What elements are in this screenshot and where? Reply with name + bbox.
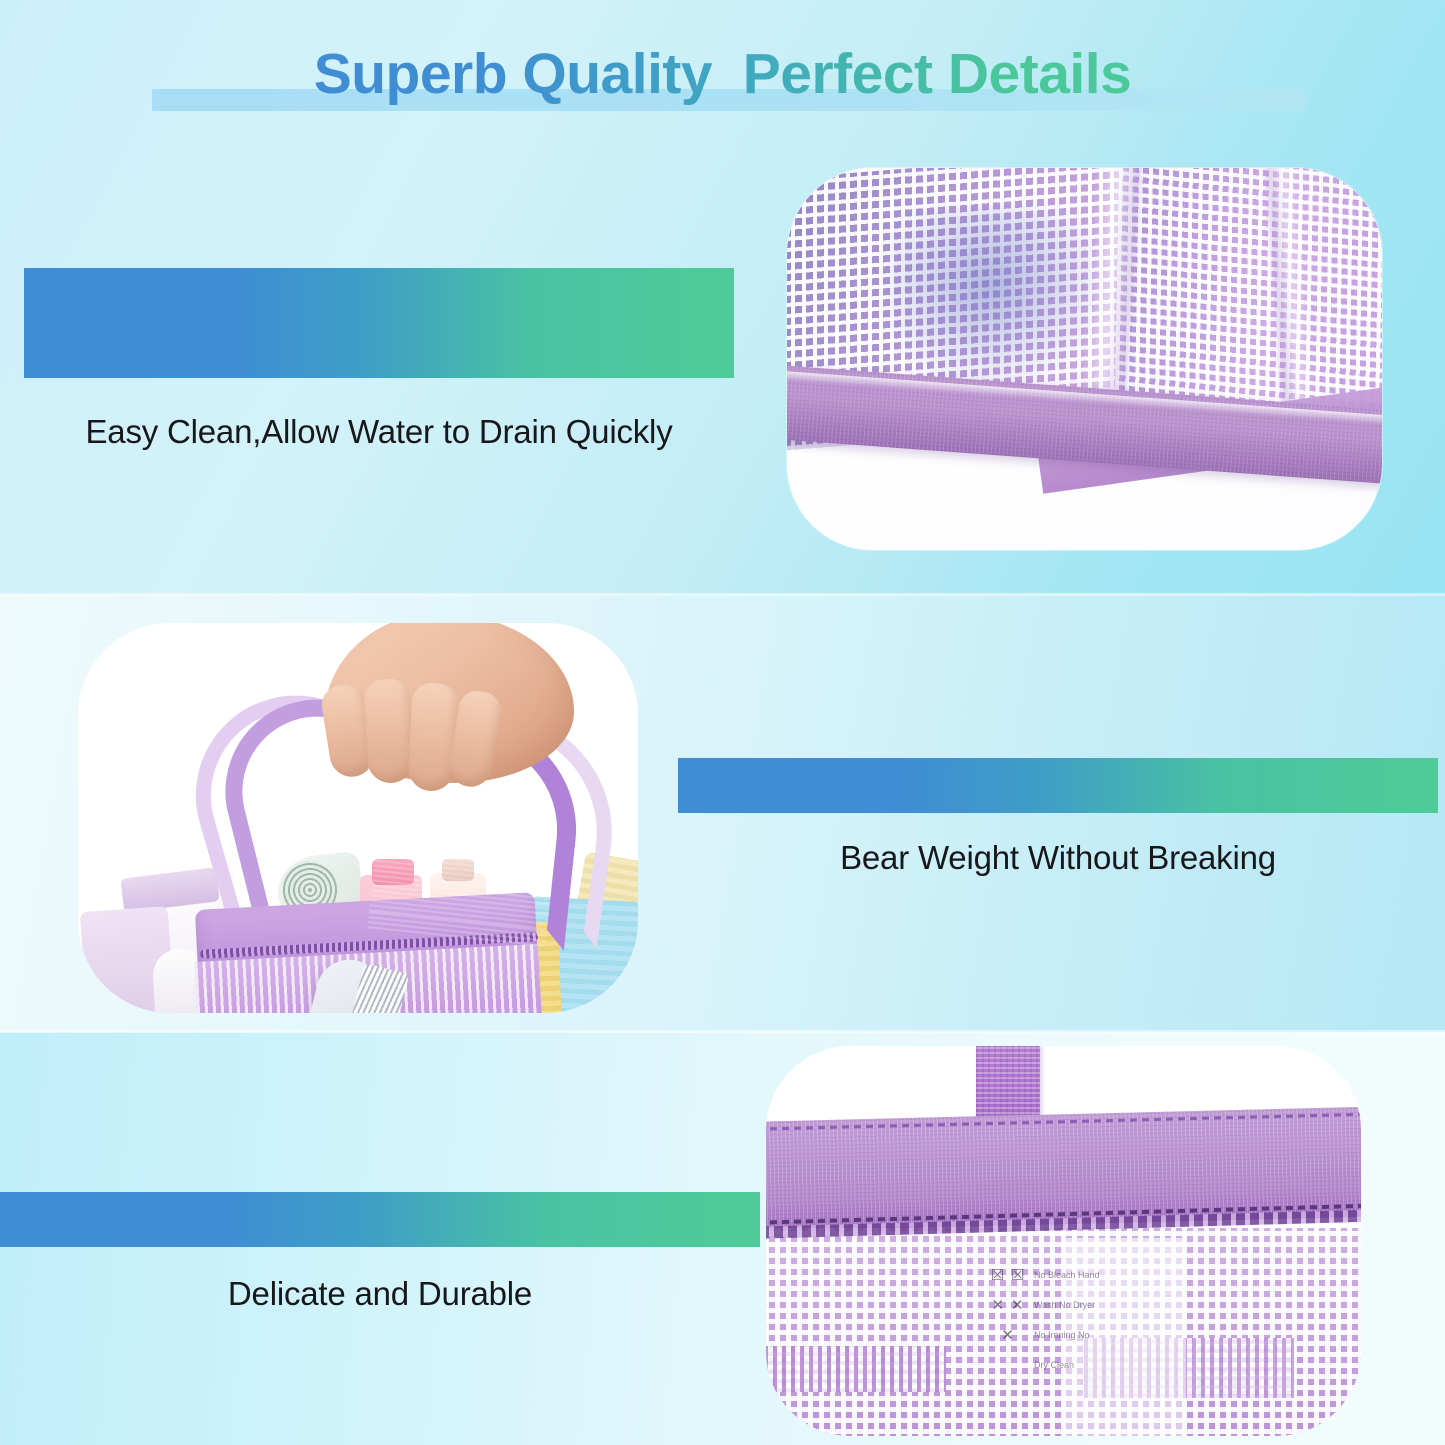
feature-heading-strong-handle: Reinforced Strong Handle [678,758,1438,813]
feature-subtitle-strong-handle: Bear Weight Without Breaking [678,837,1438,878]
photo-hand-holding-caddy [78,623,638,1013]
band-divider-2 [0,1030,1445,1033]
finger-ring [407,682,459,792]
feature-text-strong-handle: Reinforced Strong Handle Bear Weight Wit… [678,758,1438,878]
care-label-icons: ☒ ☒ ✕ ✕ ✕ [982,1260,1034,1350]
mesh-grid-left [766,1346,946,1392]
feature-heading-sewing-workmanship: Exquisite Sewing Workmanship [0,1192,760,1247]
photo-sewing-closeup: ☒ ☒ ✕ ✕ ✕ No Bleach Hand Wash No Dryer N… [766,1046,1361,1436]
care-label-text: No Bleach Hand Wash No Dryer No Ironing … [1034,1260,1104,1380]
finger-middle [363,678,414,784]
feature-text-mesh-material: High-Quality Quick- Dry Mesh Material Ea… [24,268,734,452]
feature-heading-mesh-material: High-Quality Quick- Dry Mesh Material [24,268,734,378]
band-divider-1 [0,593,1445,596]
feature-subtitle-sewing-workmanship: Delicate and Durable [0,1273,760,1314]
page-title: Superb Quality Perfect Details [0,34,1445,114]
feature-subtitle-mesh-material: Easy Clean,Allow Water to Drain Quickly [24,411,734,452]
photo-mesh-material-closeup [787,168,1382,550]
page-header: Superb Quality Perfect Details [0,34,1445,114]
infographic-page: Superb Quality Perfect Details High-Qual… [0,0,1445,1445]
feature-text-sewing-workmanship: Exquisite Sewing Workmanship Delicate an… [0,1192,760,1314]
